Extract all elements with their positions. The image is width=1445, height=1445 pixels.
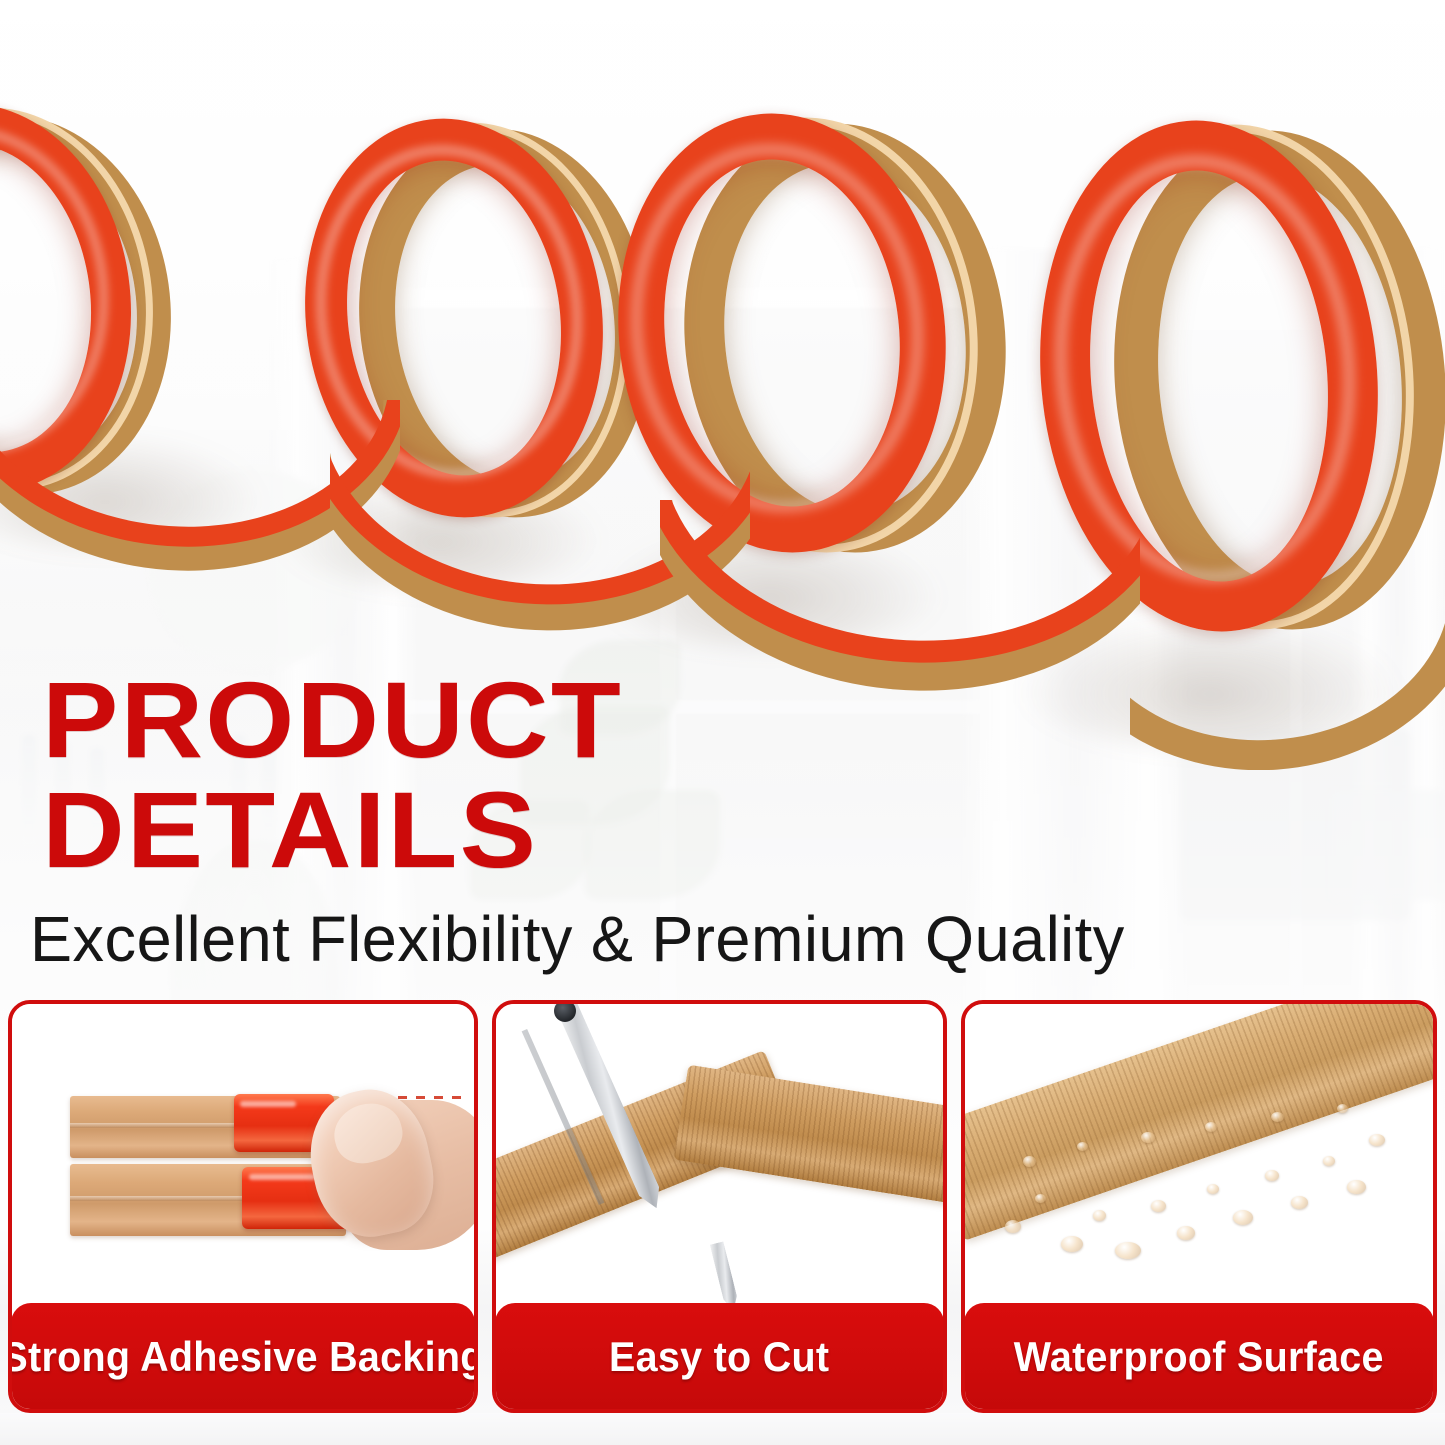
water-droplet bbox=[1369, 1134, 1385, 1146]
feature-panel-cut[interactable]: Easy to Cut bbox=[492, 1000, 947, 1413]
water-droplet bbox=[1207, 1184, 1219, 1194]
water-droplet bbox=[1177, 1226, 1195, 1240]
infographic-canvas: PRODUCT DETAILS Excellent Flexibility & … bbox=[0, 0, 1445, 1445]
water-droplet bbox=[1291, 1196, 1308, 1209]
feature-image-cut bbox=[496, 1004, 943, 1334]
tape-run-3 bbox=[660, 500, 1140, 700]
caption-text-adhesive: Strong Adhesive Backing bbox=[8, 1333, 478, 1381]
headline-details: DETAILS bbox=[42, 776, 538, 884]
water-droplet bbox=[1035, 1194, 1046, 1203]
feature-image-adhesive bbox=[12, 1004, 474, 1334]
headline-product: PRODUCT bbox=[42, 666, 623, 774]
wet-wood-strip bbox=[965, 1004, 1433, 1241]
water-droplet bbox=[1347, 1180, 1366, 1194]
subtitle: Excellent Flexibility & Premium Quality bbox=[30, 902, 1114, 976]
water-droplet bbox=[1061, 1236, 1083, 1252]
water-droplet bbox=[1093, 1210, 1106, 1221]
feature-panel-waterproof[interactable]: Waterproof Surface bbox=[961, 1000, 1437, 1413]
water-droplet bbox=[1205, 1122, 1217, 1132]
tape-run-4-wood bbox=[1130, 600, 1445, 770]
water-droplet bbox=[1141, 1132, 1155, 1143]
water-droplet bbox=[1323, 1156, 1335, 1166]
footer-strip bbox=[0, 1413, 1445, 1445]
water-droplet bbox=[1271, 1112, 1284, 1122]
tape-run-4-tail bbox=[1130, 600, 1445, 770]
caption-text-waterproof: Waterproof Surface bbox=[1014, 1333, 1384, 1381]
water-droplet bbox=[1265, 1170, 1279, 1181]
water-droplet bbox=[1337, 1104, 1348, 1113]
water-droplet bbox=[1005, 1220, 1021, 1233]
feature-panel-adhesive[interactable]: Strong Adhesive Backing bbox=[8, 1000, 478, 1413]
caption-bar-adhesive: Strong Adhesive Backing bbox=[11, 1303, 475, 1410]
water-droplet bbox=[1077, 1142, 1088, 1151]
water-droplet bbox=[1023, 1156, 1036, 1167]
caption-bar-waterproof: Waterproof Surface bbox=[964, 1303, 1434, 1410]
scissor-blade-lower bbox=[710, 1241, 741, 1312]
caption-bar-cut: Easy to Cut bbox=[495, 1303, 944, 1410]
feature-panel-group: Strong Adhesive Backing Easy to Cut bbox=[0, 1000, 1445, 1420]
water-droplet bbox=[1151, 1200, 1166, 1212]
water-droplet bbox=[1115, 1242, 1141, 1259]
caption-text-cut: Easy to Cut bbox=[609, 1333, 829, 1381]
water-droplet bbox=[1233, 1210, 1253, 1225]
wood-strip-cut-right bbox=[673, 1065, 943, 1207]
feature-image-waterproof bbox=[965, 1004, 1433, 1334]
